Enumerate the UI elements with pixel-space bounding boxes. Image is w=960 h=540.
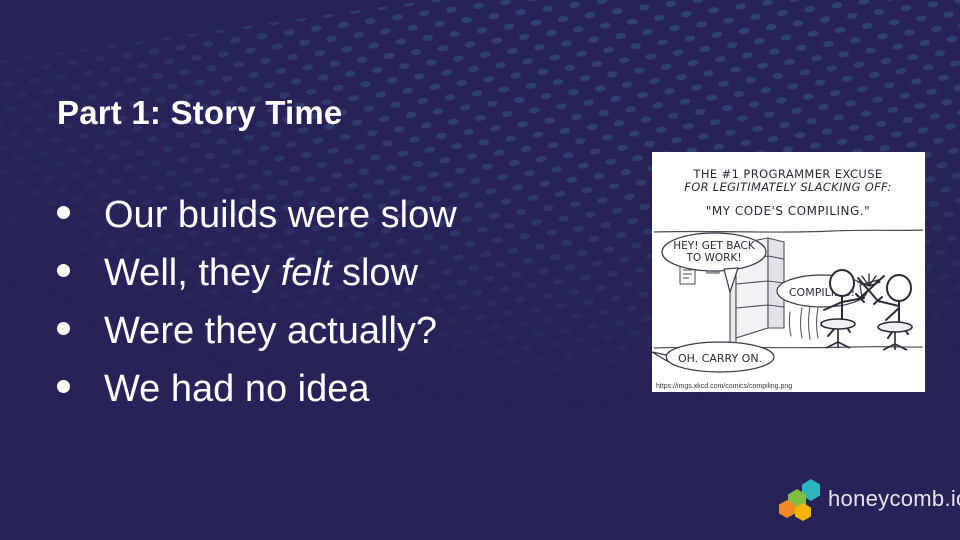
page-title: Part 1: Story Time — [57, 94, 342, 132]
bullet-text: We had no idea — [104, 366, 370, 412]
comic-artwork: THE #1 PROGRAMMER EXCUSE FOR LEGITIMATEL… — [652, 152, 925, 392]
list-item: Well, they felt slow — [57, 250, 637, 308]
comic-bubble-boss-line1: HEY! GET BACK — [673, 240, 756, 252]
comic-caption-line2: FOR LEGITIMATELY SLACKING OFF: — [684, 180, 891, 194]
comic-caption-line3: "MY CODE'S COMPILING." — [706, 204, 870, 218]
honeycomb-logo: honeycomb.io — [779, 476, 960, 522]
bullet-text: Our builds were slow — [104, 192, 457, 238]
comic-source-url: https://imgs.xkcd.com/comics/compiling.p… — [656, 383, 792, 390]
list-item: We had no idea — [57, 366, 637, 424]
bullet-dot-icon — [57, 322, 70, 335]
comic-caption-line1: THE #1 PROGRAMMER EXCUSE — [692, 167, 882, 181]
logo-wordmark: honeycomb.io — [828, 488, 960, 510]
bullet-text: Well, they felt slow — [104, 250, 418, 296]
bullet-dot-icon — [57, 206, 70, 219]
honeycomb-hexagon-logo-icon — [779, 476, 825, 522]
bullet-dot-icon — [57, 380, 70, 393]
bullet-dot-icon — [57, 264, 70, 277]
slide-root: Part 1: Story Time Our builds were slow … — [0, 0, 960, 540]
list-item: Our builds were slow — [57, 192, 637, 250]
bullet-text: Were they actually? — [104, 308, 437, 354]
xkcd-compiling-comic: THE #1 PROGRAMMER EXCUSE FOR LEGITIMATEL… — [652, 152, 925, 392]
comic-bubble-boss-line2: TO WORK! — [685, 252, 741, 264]
bullet-list: Our builds were slow Well, they felt slo… — [57, 192, 637, 424]
list-item: Were they actually? — [57, 308, 637, 366]
comic-bubble-carry-on-text: OH. CARRY ON. — [678, 352, 762, 365]
